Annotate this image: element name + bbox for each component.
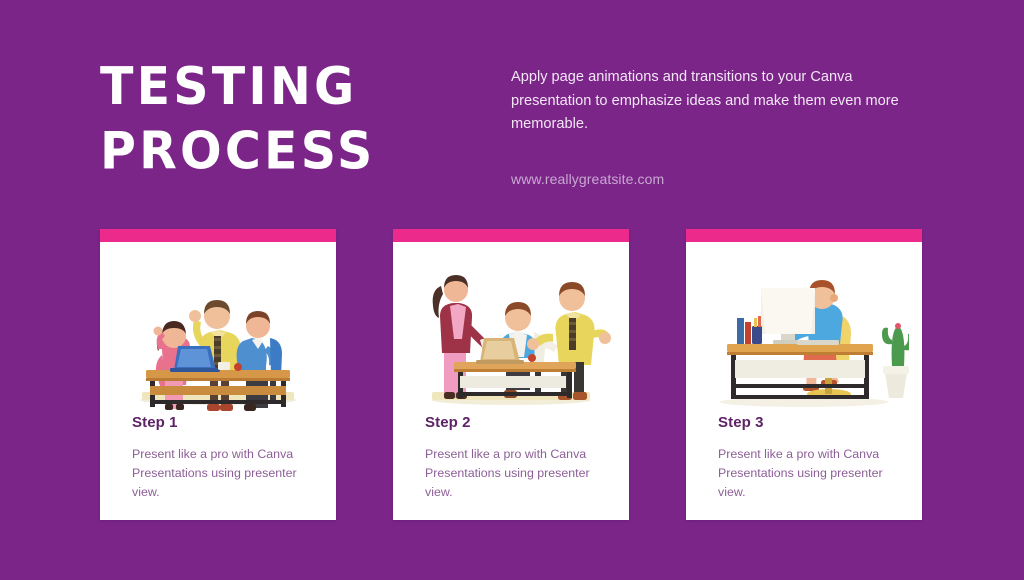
- card-body: Step 2 Present like a pro with Canva Pre…: [393, 414, 629, 520]
- step-card[interactable]: Step 1 Present like a pro with Canva Pre…: [100, 229, 336, 520]
- title-block: TESTING PROCESS: [100, 55, 430, 177]
- step-card[interactable]: Step 2 Present like a pro with Canva Pre…: [393, 229, 629, 520]
- presentation-slide: TESTING PROCESS Apply page animations an…: [0, 0, 1024, 580]
- card-accent-stripe: [686, 229, 922, 242]
- step-title: Step 1: [132, 414, 304, 431]
- step-title: Step 3: [718, 414, 890, 431]
- card-accent-stripe: [393, 229, 629, 242]
- step-card[interactable]: Step 3 Present like a pro with Canva Pre…: [686, 229, 922, 520]
- step-description: Present like a pro with Canva Presentati…: [132, 445, 304, 503]
- step-description: Present like a pro with Canva Presentati…: [718, 445, 890, 503]
- card-body: Step 3 Present like a pro with Canva Pre…: [686, 414, 922, 520]
- intro-block: Apply page animations and transitions to…: [511, 66, 931, 137]
- person-at-computer-desk-illustration: [686, 242, 922, 414]
- step-title: Step 2: [425, 414, 597, 431]
- step-description: Present like a pro with Canva Presentati…: [425, 445, 597, 503]
- team-meeting-at-desk-illustration: [100, 242, 336, 414]
- card-body: Step 1 Present like a pro with Canva Pre…: [100, 414, 336, 520]
- intro-paragraph: Apply page animations and transitions to…: [511, 66, 931, 137]
- page-title: TESTING PROCESS: [100, 55, 430, 184]
- step-card-list: Step 1 Present like a pro with Canva Pre…: [100, 229, 922, 520]
- standing-team-discussion-illustration: [393, 242, 629, 414]
- card-accent-stripe: [100, 229, 336, 242]
- site-url: www.reallygreatsite.com: [511, 169, 664, 190]
